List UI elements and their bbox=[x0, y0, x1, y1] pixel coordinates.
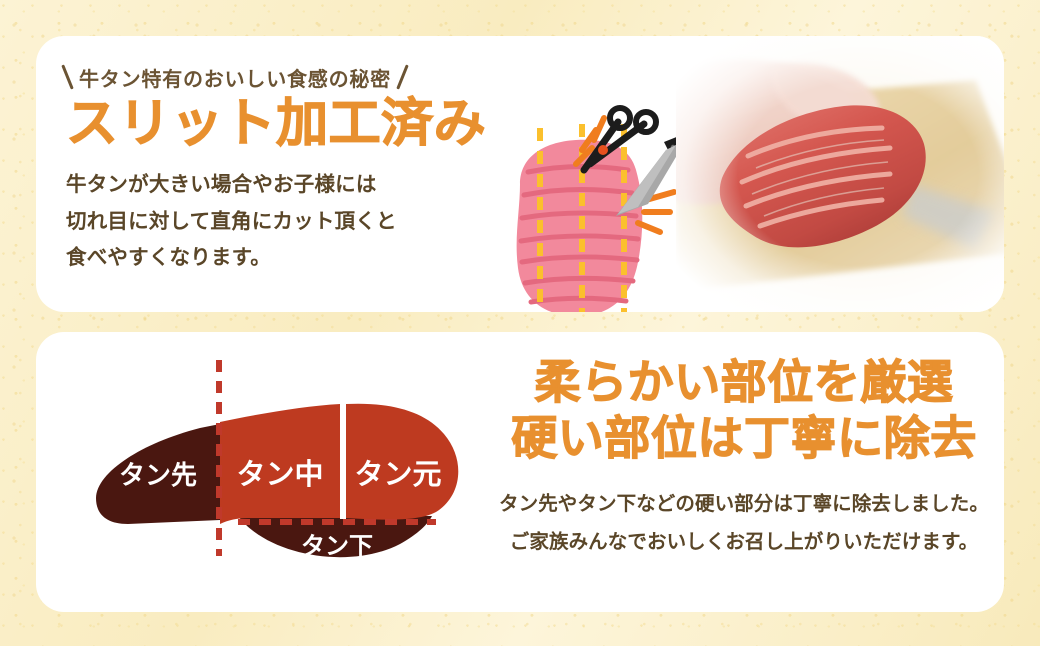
top-card-description-line-3: 食べやすくなります。 bbox=[66, 240, 496, 276]
beef-tongue-photo bbox=[676, 36, 1004, 312]
top-card-description: 牛タンが大きい場合やお子様には 切れ目に対して直角にカット頂くと 食べやすくなり… bbox=[66, 167, 496, 276]
beef-tongue-photo-svg bbox=[676, 36, 1004, 312]
naka-moto-divider bbox=[340, 404, 346, 519]
tongue-parts-diagram-svg: タン先 タン中 タン元 タン下 bbox=[88, 348, 488, 588]
tongue-part-label-moto: タン元 bbox=[354, 458, 441, 491]
tongue-part-label-naka: タン中 bbox=[236, 458, 323, 491]
bottom-card-text-block: 柔らかい部位を厳選 硬い部位は丁寧に除去 タン先やタン下などの硬い部分は丁寧に除… bbox=[494, 354, 994, 561]
bottom-card-description-line-2: ご家族みんなでおいしくお召し上がりいただけます。 bbox=[494, 524, 994, 561]
bottom-card-heading: 柔らかい部位を厳選 硬い部位は丁寧に除去 bbox=[494, 354, 994, 466]
tongue-parts-diagram: タン先 タン中 タン元 タン下 bbox=[88, 348, 488, 588]
tongue-part-label-saki: タン先 bbox=[119, 460, 197, 490]
bottom-card-heading-line-2: 硬い部位は丁寧に除去 bbox=[494, 410, 994, 466]
bottom-card-description: タン先やタン下などの硬い部分は丁寧に除去しました。 ご家族みんなでおいしくお召し… bbox=[494, 486, 994, 561]
scissors-pivot-dot bbox=[598, 145, 608, 155]
top-card-text-block: 牛タン特有のおいしい食感の秘密 スリット加工済み 牛タンが大きい場合やお子様には… bbox=[66, 62, 496, 277]
top-card-description-line-2: 切れ目に対して直角にカット頂くと bbox=[66, 204, 496, 240]
slit-processing-card: 牛タン特有のおいしい食感の秘密 スリット加工済み 牛タンが大きい場合やお子様には… bbox=[36, 36, 1004, 312]
tongue-part-label-shita: タン下 bbox=[301, 533, 373, 560]
slash-left-icon bbox=[61, 64, 74, 89]
promo-page: 牛タン特有のおいしい食感の秘密 スリット加工済み 牛タンが大きい場合やお子様には… bbox=[0, 0, 1040, 646]
tender-parts-card: タン先 タン中 タン元 タン下 柔らかい部位を厳選 硬い部位は丁寧に除去 タン先… bbox=[36, 332, 1004, 612]
bottom-card-heading-line-1: 柔らかい部位を厳選 bbox=[494, 354, 994, 410]
bottom-card-description-line-1: タン先やタン下などの硬い部分は丁寧に除去しました。 bbox=[494, 486, 994, 523]
slash-right-icon bbox=[396, 64, 409, 89]
page-title: スリット加工済み bbox=[66, 96, 496, 153]
top-card-description-line-1: 牛タンが大きい場合やお子様には bbox=[66, 167, 496, 203]
eyebrow-label: 牛タン特有のおいしい食感の秘密 bbox=[79, 63, 391, 92]
eyebrow-heading: 牛タン特有のおいしい食感の秘密 bbox=[66, 62, 496, 92]
